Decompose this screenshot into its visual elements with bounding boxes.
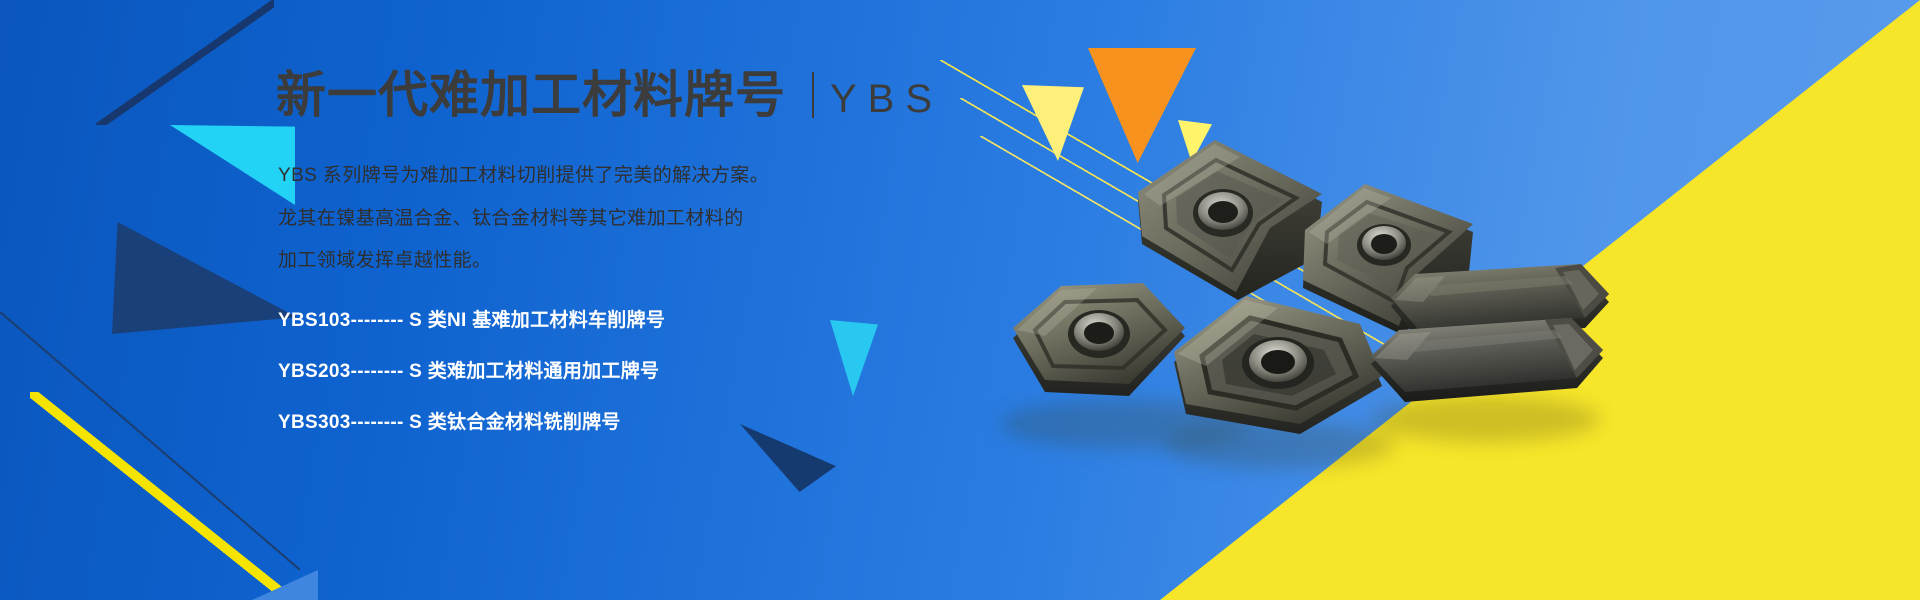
banner-description: YBS 系列牌号为难加工材料切削提供了完美的解决方案。 龙其在镍基高温合金、钛合… (278, 162, 769, 290)
navy-diagonal-line-top-left-icon (96, 0, 274, 125)
description-line: 龙其在镍基高温合金、钛合金材料等其它难加工材料的 (278, 205, 769, 233)
grade-list: YBS103-------- S 类NI 基难加工材料车削牌号 YBS203--… (278, 305, 665, 458)
list-item: YBS103-------- S 类NI 基难加工材料车削牌号 (278, 305, 665, 332)
page-title: 新一代难加工材料牌号 (276, 70, 786, 120)
square-milling-insert (1160, 290, 1395, 465)
product-photo-cluster (990, 150, 1610, 530)
banner-copy: 新一代难加工材料牌号 YBS YBS 系列牌号为难加工材料切削提供了完美的解决方… (276, 0, 1036, 600)
product-banner: 新一代难加工材料牌号 YBS YBS 系列牌号为难加工材料切削提供了完美的解决方… (0, 0, 1920, 600)
list-item: YBS203-------- S 类难加工材料通用加工牌号 (278, 356, 665, 383)
title-series-code: YBS (830, 77, 943, 122)
title-separator-icon (812, 72, 814, 118)
description-line: 加工领域发挥卓越性能。 (278, 247, 769, 275)
yellow-stripe-bottom-left-icon (30, 392, 290, 600)
banner-title: 新一代难加工材料牌号 YBS (276, 66, 943, 122)
list-item: YBS303-------- S 类钛合金材料铣削牌号 (278, 407, 665, 434)
description-line: YBS 系列牌号为难加工材料切削提供了完美的解决方案。 (278, 162, 769, 190)
grooving-bar-insert-lower (1365, 312, 1615, 442)
